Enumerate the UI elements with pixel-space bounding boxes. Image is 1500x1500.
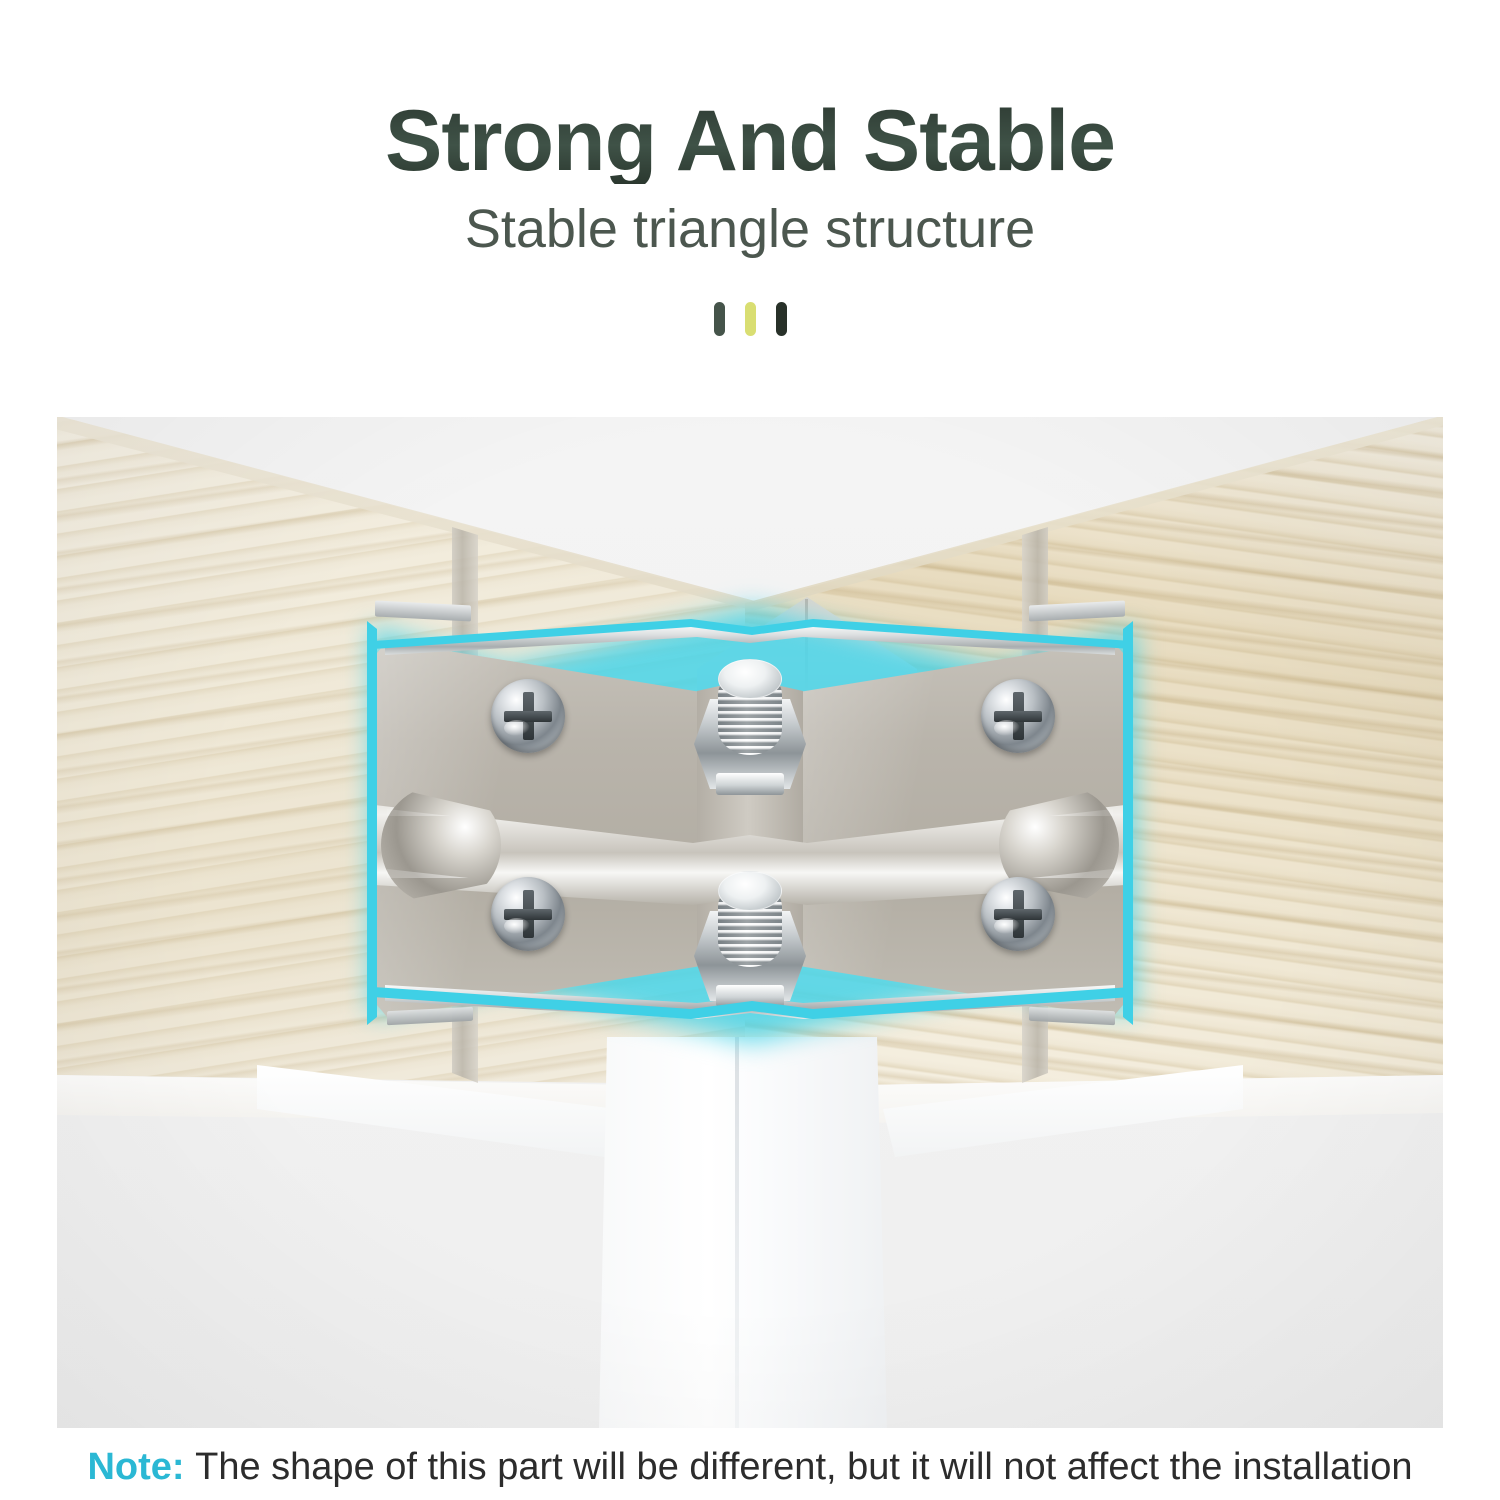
phillips-screw-icon xyxy=(981,679,1055,753)
note-label: Note: xyxy=(87,1446,195,1488)
phillips-screw-icon xyxy=(491,877,565,951)
bar-yellow-icon xyxy=(745,302,756,336)
note-text: The shape of this part will be different… xyxy=(195,1446,1412,1488)
corner-bracket xyxy=(57,417,1443,1428)
product-feature-page: Strong And Stable Stable triangle struct… xyxy=(0,0,1500,1500)
product-photo xyxy=(57,417,1443,1428)
page-title: Strong And Stable xyxy=(0,98,1500,184)
page-subtitle: Stable triangle structure xyxy=(0,200,1500,259)
header-section: Strong And Stable Stable triangle struct… xyxy=(0,0,1500,400)
bolt-cap xyxy=(718,871,782,911)
bolt-cap xyxy=(718,659,782,699)
note-line: Note: The shape of this part will be dif… xyxy=(0,1448,1500,1486)
phillips-screw-icon xyxy=(981,877,1055,951)
bolt-washer xyxy=(716,773,784,795)
hex-bolt-icon xyxy=(694,869,806,1005)
phillips-screw-icon xyxy=(491,679,565,753)
bar-charcoal-icon xyxy=(776,302,787,336)
hex-bolt-icon xyxy=(694,657,806,793)
bar-dark-green-icon xyxy=(714,302,725,336)
divider-bars xyxy=(0,302,1500,338)
